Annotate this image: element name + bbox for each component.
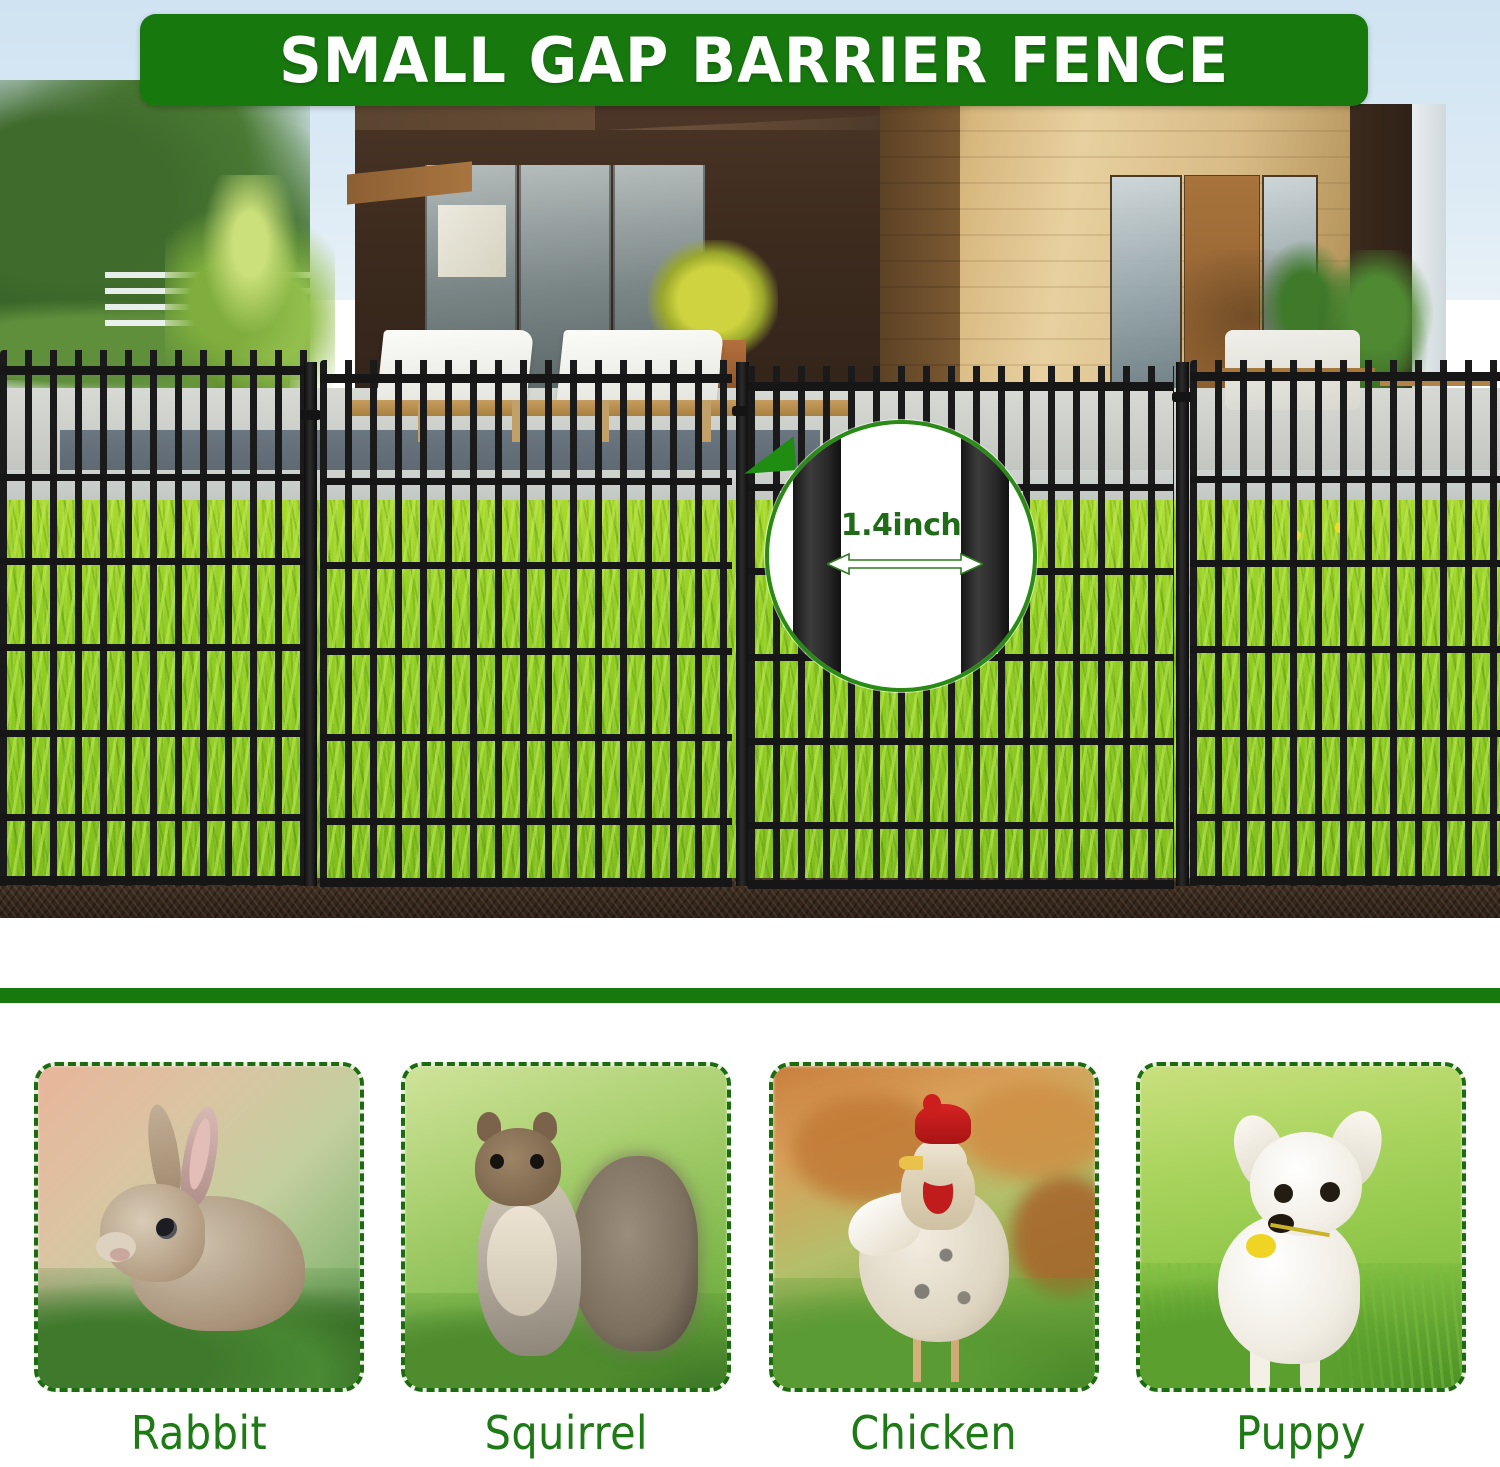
fence-rail bbox=[748, 738, 1174, 745]
animal-label-squirrel: Squirrel bbox=[401, 1406, 731, 1460]
fence-rail bbox=[320, 478, 732, 485]
animal-label-puppy: Puppy bbox=[1136, 1406, 1466, 1460]
animal-label-chicken: Chicken bbox=[769, 1406, 1099, 1460]
fence-rail bbox=[0, 876, 312, 885]
fence-vertical-bars bbox=[320, 366, 732, 886]
hero-image: 1.4inch SMALL GAP BARRIER FENCE bbox=[0, 0, 1500, 918]
fence-rail bbox=[1190, 476, 1500, 483]
fence-rail bbox=[748, 382, 1174, 391]
callout-pointer-icon bbox=[742, 436, 796, 474]
fence-post bbox=[1176, 362, 1189, 886]
fence-panel-4 bbox=[1190, 366, 1500, 886]
animal-card-chicken: Chicken bbox=[769, 1062, 1099, 1422]
page-title: SMALL GAP BARRIER FENCE bbox=[279, 24, 1229, 97]
section-divider bbox=[0, 988, 1500, 1003]
fence-rail bbox=[1190, 646, 1500, 653]
fence-rail bbox=[0, 474, 312, 481]
fence-vertical-bars bbox=[1190, 366, 1500, 886]
fence-rail bbox=[1190, 876, 1500, 885]
fence-rail bbox=[0, 730, 312, 737]
squirrel-photo bbox=[401, 1062, 731, 1392]
fence-rail bbox=[320, 734, 732, 741]
fence-rail bbox=[1190, 372, 1500, 381]
gap-measurement-callout: 1.4inch bbox=[765, 420, 1037, 692]
chicken-photo bbox=[769, 1062, 1099, 1392]
gap-measurement-label: 1.4inch bbox=[769, 508, 1033, 543]
fence-rail bbox=[0, 558, 312, 565]
house-wood-corner bbox=[880, 104, 960, 394]
glass-reflection bbox=[438, 205, 506, 277]
fence-rail bbox=[320, 562, 732, 569]
blocked-animals-section: Rabbit Squirrel bbox=[0, 1062, 1500, 1422]
fence-panel-2 bbox=[320, 366, 732, 886]
fence-rail bbox=[748, 880, 1174, 889]
fence-rail bbox=[320, 878, 732, 887]
fence-rail bbox=[0, 644, 312, 651]
animal-card-rabbit: Rabbit bbox=[34, 1062, 364, 1422]
fence-post-cap bbox=[300, 410, 321, 420]
fence-rail bbox=[1190, 730, 1500, 737]
fence-rail bbox=[1190, 560, 1500, 567]
animal-card-squirrel: Squirrel bbox=[401, 1062, 731, 1422]
callout-circle: 1.4inch bbox=[765, 420, 1037, 692]
dimension-arrow-icon bbox=[827, 552, 983, 576]
fence-rail bbox=[320, 818, 732, 825]
title-banner: SMALL GAP BARRIER FENCE bbox=[140, 14, 1368, 106]
fence-rail bbox=[320, 648, 732, 655]
fence-panel-1 bbox=[0, 366, 312, 886]
puppy-photo bbox=[1136, 1062, 1466, 1392]
rabbit-photo bbox=[34, 1062, 364, 1392]
fence-rail bbox=[320, 374, 732, 383]
fence-rail bbox=[0, 366, 312, 375]
fence-rail bbox=[748, 822, 1174, 829]
fence-vertical-bars bbox=[0, 366, 312, 886]
house-window-1 bbox=[1110, 175, 1182, 390]
fence-rail bbox=[0, 814, 312, 821]
product-infographic: 1.4inch SMALL GAP BARRIER FENCE bbox=[0, 0, 1500, 1467]
fence-rail bbox=[1190, 814, 1500, 821]
animal-label-rabbit: Rabbit bbox=[34, 1406, 364, 1460]
fence-post bbox=[304, 362, 317, 886]
animal-card-puppy: Puppy bbox=[1136, 1062, 1466, 1422]
